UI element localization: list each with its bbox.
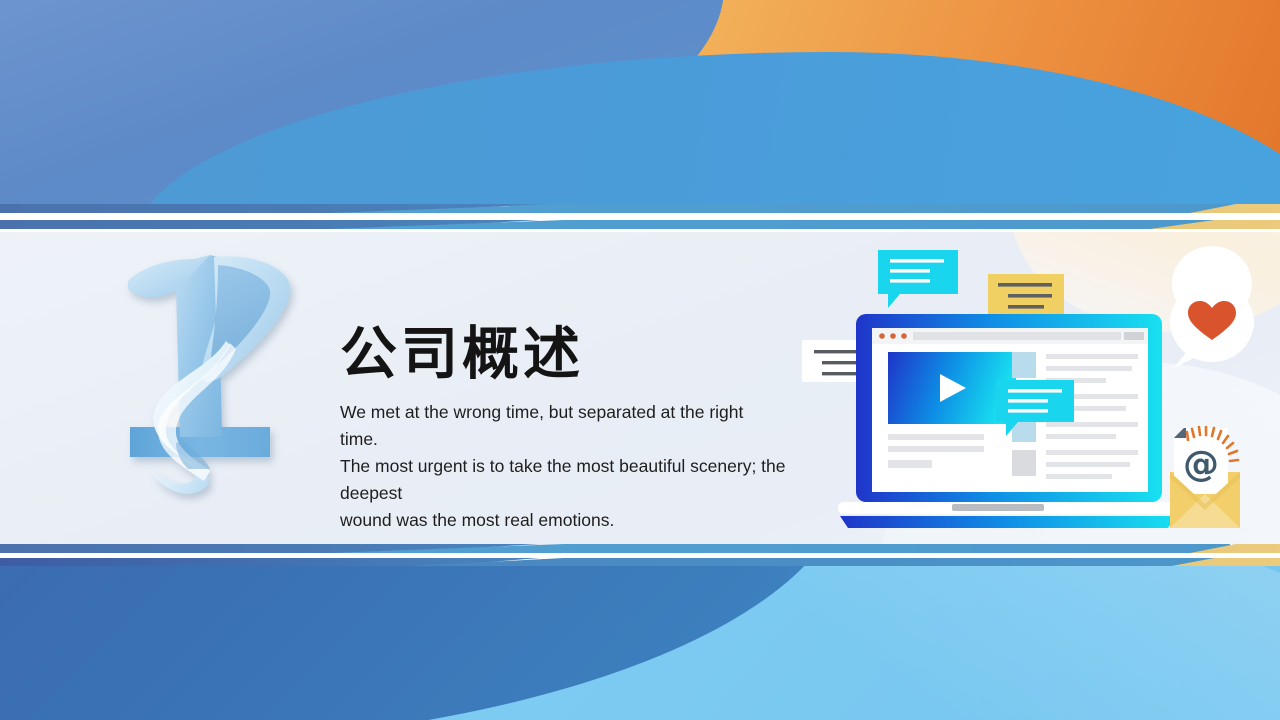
slide-root: 公司概述 We met at the wrong time, but separ…	[0, 0, 1280, 720]
body-line: We met at the wrong time, but separated …	[340, 399, 810, 426]
bottom-decorative-band	[0, 566, 1280, 720]
divider-bar-upper	[0, 204, 1280, 213]
body-paragraph: We met at the wrong time, but separated …	[340, 399, 810, 534]
at-symbol-icon: @	[1183, 444, 1219, 485]
top-decorative-band	[0, 0, 1280, 206]
divider-bars-top	[0, 204, 1280, 232]
heart-speech-bubble	[1170, 246, 1254, 368]
section-number-graphic	[118, 245, 318, 520]
divider-bar-lower	[0, 220, 1280, 229]
body-line: wound was the most real emotions.	[340, 507, 810, 534]
chat-bubble-cyan	[878, 250, 958, 308]
online-media-illustration: @	[800, 232, 1280, 542]
body-line: deepest	[340, 480, 810, 507]
svg-text:@: @	[1183, 444, 1219, 485]
body-line: The most urgent is to take the most beau…	[340, 453, 810, 480]
email-envelope: @	[1170, 427, 1240, 528]
divider-bar-upper	[0, 544, 1280, 553]
body-line: time.	[340, 426, 810, 453]
bottom-sheen	[660, 566, 1280, 720]
page-title: 公司概述	[340, 325, 810, 385]
text-block: 公司概述 We met at the wrong time, but separ…	[340, 325, 810, 534]
